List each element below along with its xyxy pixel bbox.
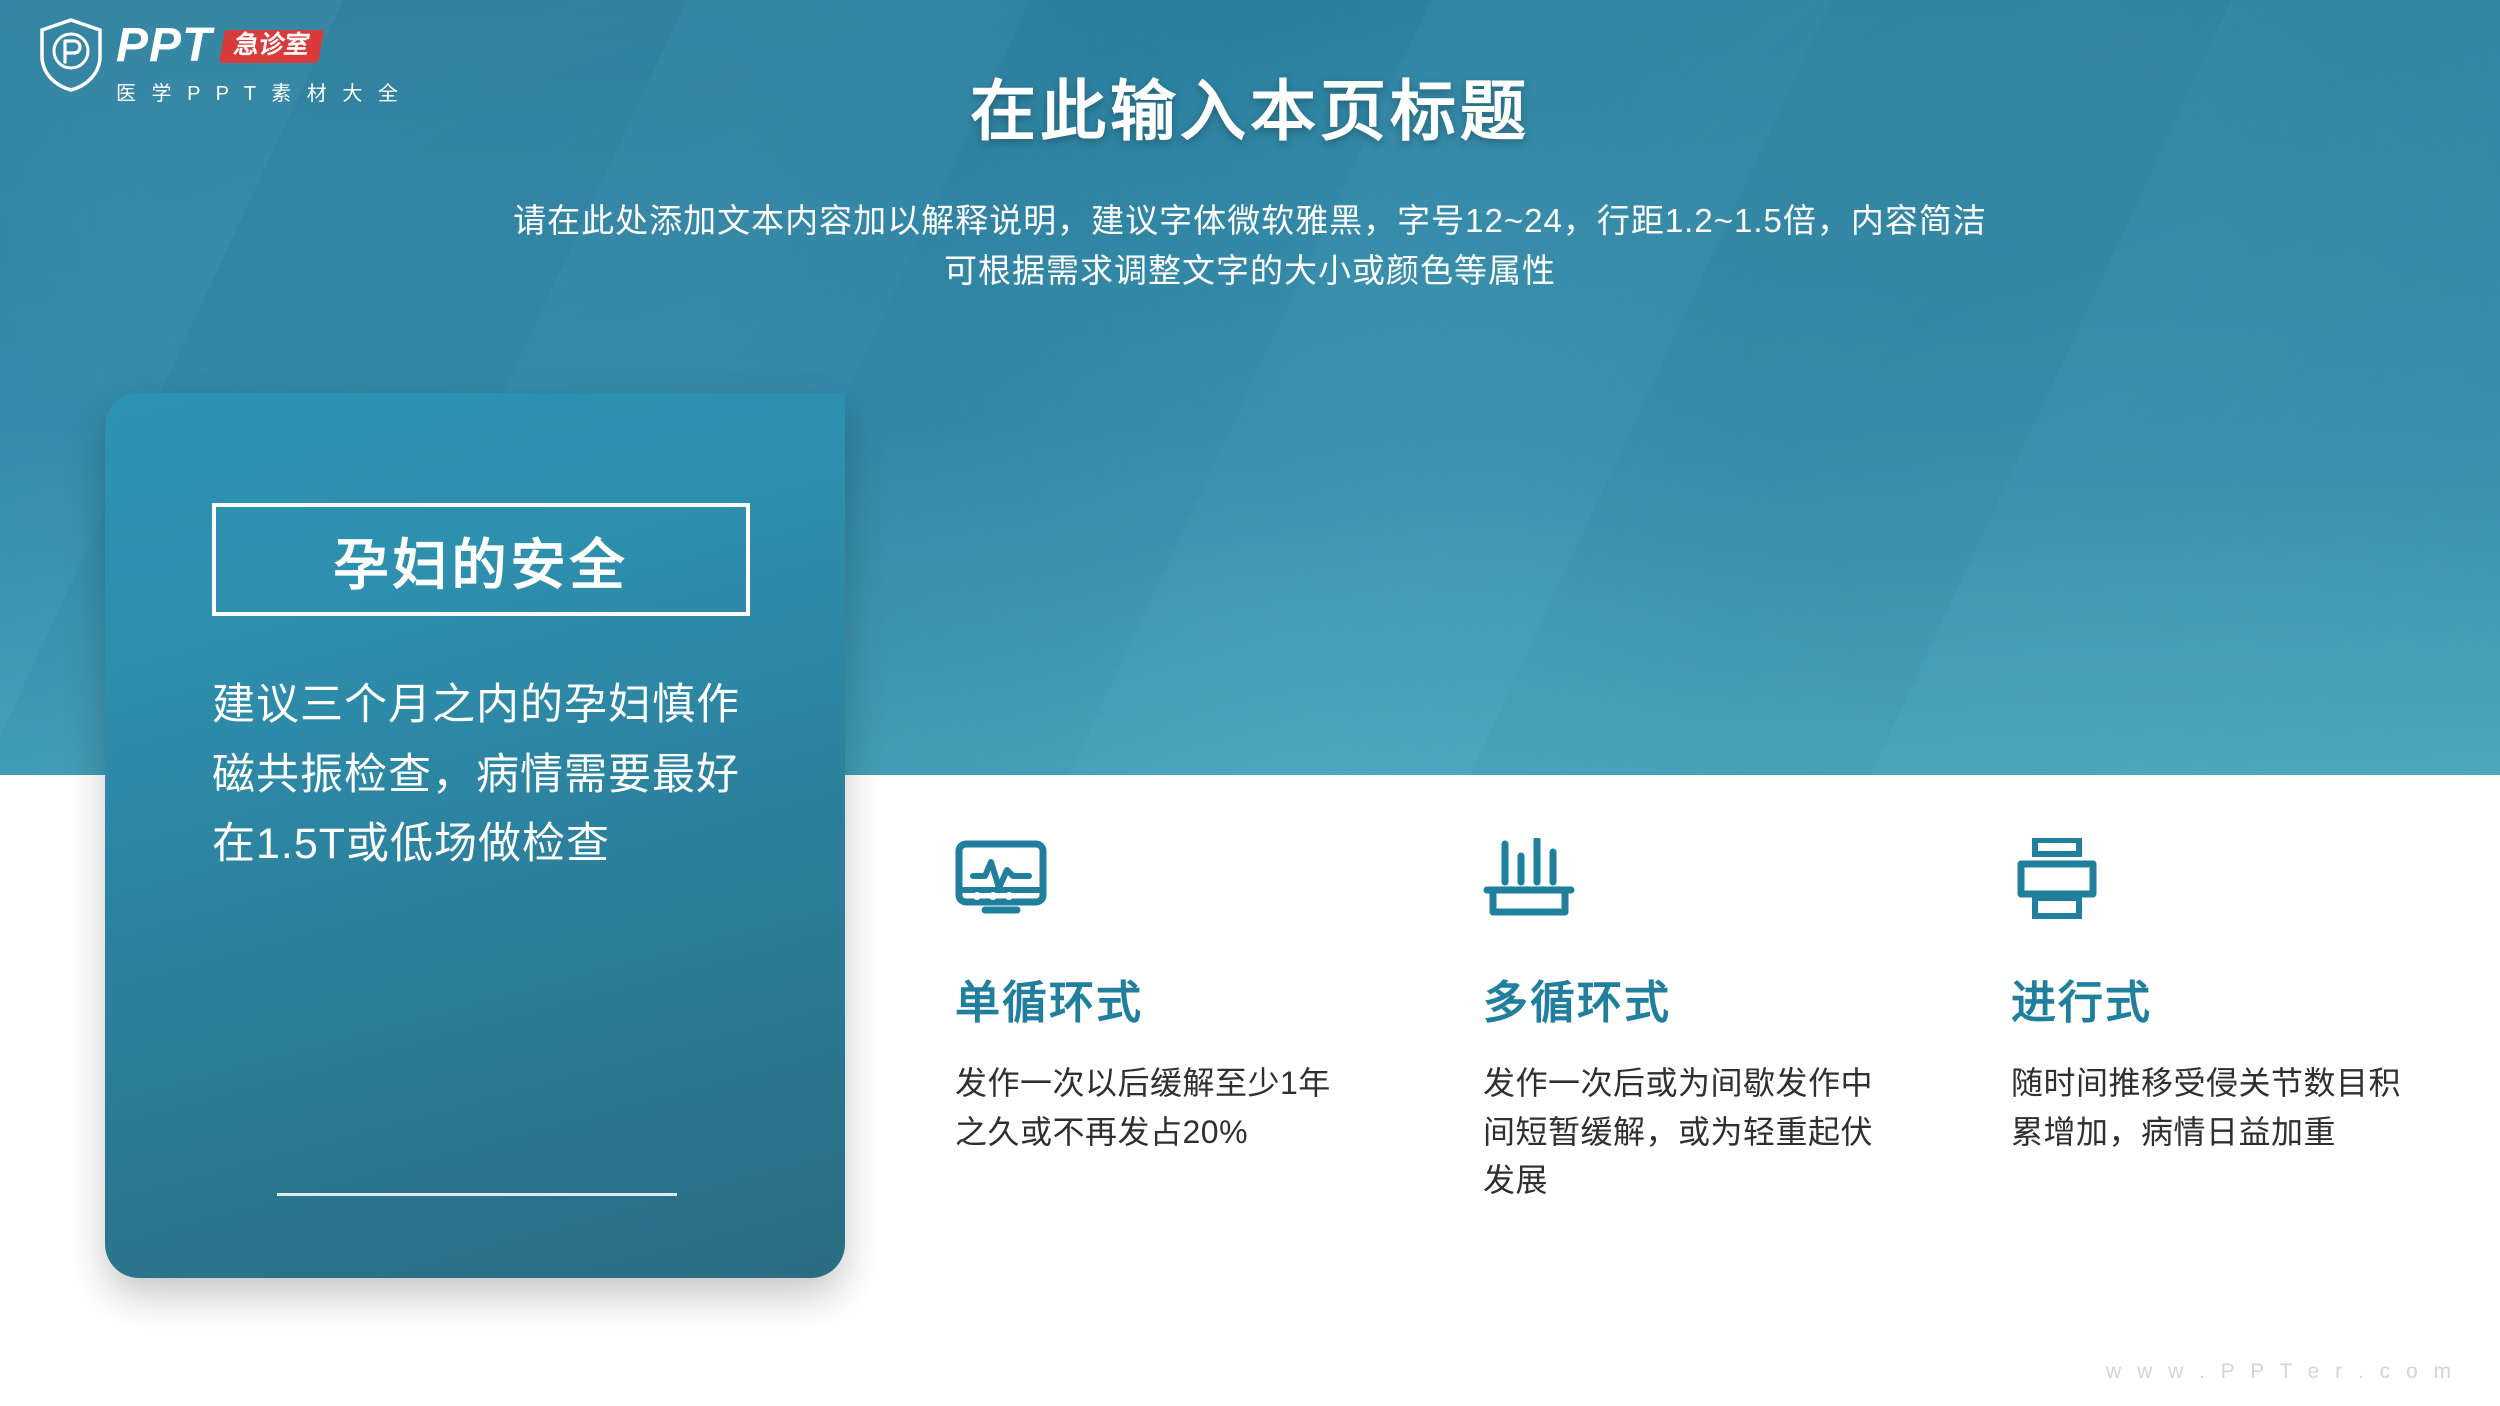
page-subtitle: 请在此处添加文本内容加以解释说明，建议字体微软雅黑，字号12~24，行距1.2~… <box>0 196 2500 295</box>
feature-item-3: 进行式 随时间推移受侵关节数目积累增加，病情日益加重 <box>2011 828 2431 1205</box>
feature-title-2: 多循环式 <box>1483 966 1903 1031</box>
feature-list: 单循环式 发作一次以后缓解至少1年之久或不再发占20% 多循环式 发作一次后或为… <box>955 828 2435 1205</box>
brand-text: PPT 急诊室 医 学 P P T 素 材 大 全 <box>116 18 403 106</box>
footer-site-url: w w w . P P T e r . c o m <box>2106 1360 2456 1384</box>
feature-item-2: 多循环式 发作一次后或为间歇发作中间短暂缓解，或为轻重起伏发展 <box>1483 828 1903 1205</box>
bar-chart-icon <box>1483 828 1903 920</box>
printer-icon <box>2011 828 2431 920</box>
page-subtitle-line-1: 请在此处添加文本内容加以解释说明，建议字体微软雅黑，字号12~24，行距1.2~… <box>0 196 2500 246</box>
shield-p-icon <box>38 18 104 92</box>
feature-desc-2: 发作一次后或为间歇发作中间短暂缓解，或为轻重起伏发展 <box>1483 1059 1883 1205</box>
feature-desc-1: 发作一次以后缓解至少1年之久或不再发占20% <box>955 1059 1355 1156</box>
highlight-card-label: 孕妇的安全 <box>333 520 628 600</box>
feature-desc-3: 随时间推移受侵关节数目积累增加，病情日益加重 <box>2011 1059 2411 1156</box>
feature-item-1: 单循环式 发作一次以后缓解至少1年之久或不再发占20% <box>955 828 1375 1205</box>
highlight-card-divider <box>277 1193 677 1196</box>
brand-badge: 急诊室 <box>219 30 324 63</box>
feature-title-1: 单循环式 <box>955 966 1375 1031</box>
monitor-waveform-icon <box>955 828 1375 920</box>
highlight-card-label-box: 孕妇的安全 <box>212 503 750 616</box>
brand-name: PPT <box>116 22 212 70</box>
highlight-card-body: 建议三个月之内的孕妇慎作磁共振检查，病情需要最好在1.5T或低场做检查 <box>212 671 772 880</box>
feature-title-3: 进行式 <box>2011 966 2431 1031</box>
highlight-card: 孕妇的安全 建议三个月之内的孕妇慎作磁共振检查，病情需要最好在1.5T或低场做检… <box>105 393 845 1278</box>
brand-tagline: 医 学 P P T 素 材 大 全 <box>116 77 403 106</box>
brand-logo: PPT 急诊室 医 学 P P T 素 材 大 全 <box>38 18 403 106</box>
page-subtitle-line-2: 可根据需求调整文字的大小或颜色等属性 <box>0 246 2500 296</box>
slide: PPT 急诊室 医 学 P P T 素 材 大 全 在此输入本页标题 请在此处添… <box>0 0 2500 1406</box>
